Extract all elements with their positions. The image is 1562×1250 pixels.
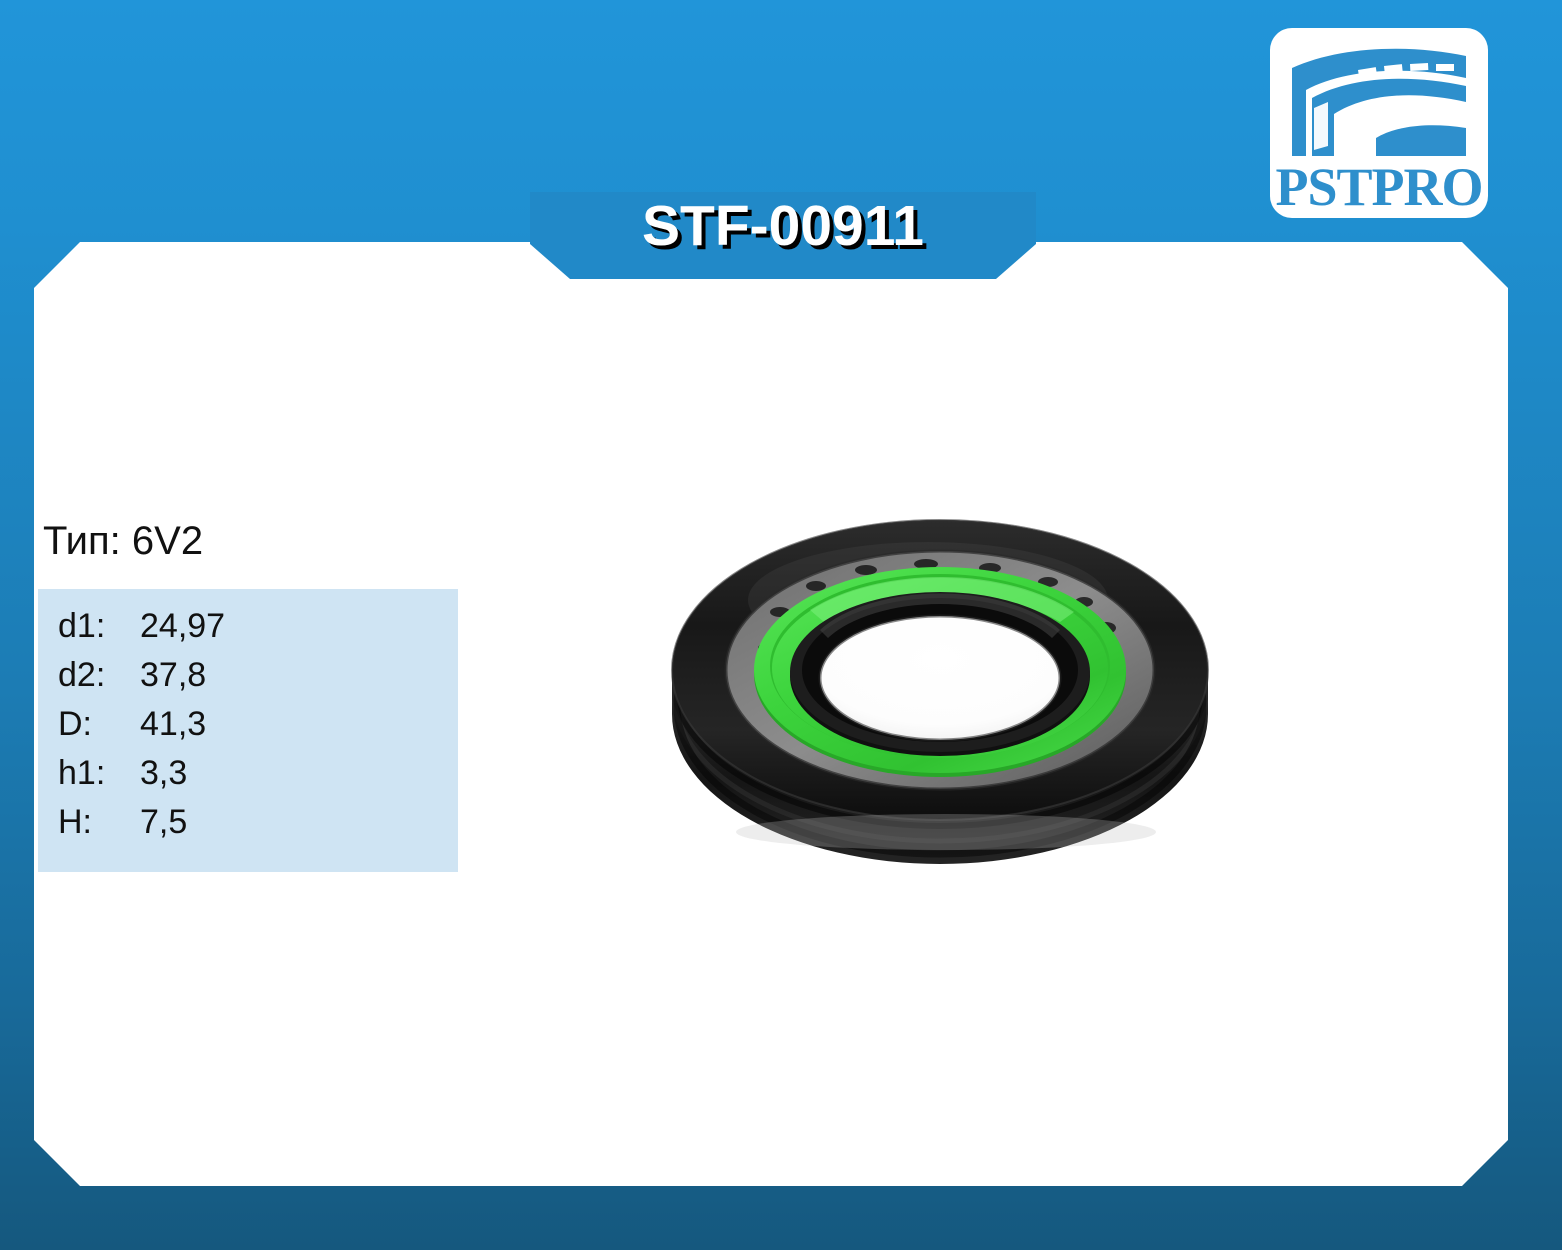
spec-key: h1: bbox=[58, 754, 140, 793]
spec-key: D: bbox=[58, 705, 140, 744]
brand-logo: PSTPRO bbox=[1270, 28, 1488, 218]
spec-type-label: Тип: 6V2 bbox=[43, 517, 203, 565]
spec-value: 24,97 bbox=[140, 607, 225, 646]
spec-value: 41,3 bbox=[140, 705, 206, 744]
page-title: STF-00911 bbox=[642, 191, 924, 261]
spec-key: H: bbox=[58, 803, 140, 842]
spec-key: d2: bbox=[58, 656, 140, 695]
oil-seal-ring-photo bbox=[660, 480, 1220, 920]
title-banner: STF-00911 bbox=[530, 192, 1036, 279]
table-row: d1: 24,97 bbox=[38, 607, 458, 656]
spec-table: d1: 24,97 d2: 37,8 D: 41,3 h1: 3,3 H: 7,… bbox=[38, 589, 458, 872]
logo-wordmark: PSTPRO bbox=[1270, 160, 1488, 214]
table-row: D: 41,3 bbox=[38, 705, 458, 754]
oil-seal-illustration bbox=[660, 480, 1220, 920]
table-row: H: 7,5 bbox=[38, 803, 458, 852]
spec-value: 7,5 bbox=[140, 803, 187, 842]
table-row: h1: 3,3 bbox=[38, 754, 458, 803]
table-row: d2: 37,8 bbox=[38, 656, 458, 705]
spec-value: 3,3 bbox=[140, 754, 187, 793]
product-spec-sheet: PSTPRO STF-00911 Тип: 6V2 d1: 24,97 d2: … bbox=[0, 0, 1562, 1250]
spec-key: d1: bbox=[58, 607, 140, 646]
spec-value: 37,8 bbox=[140, 656, 206, 695]
highway-road-logo-icon bbox=[1280, 34, 1478, 174]
